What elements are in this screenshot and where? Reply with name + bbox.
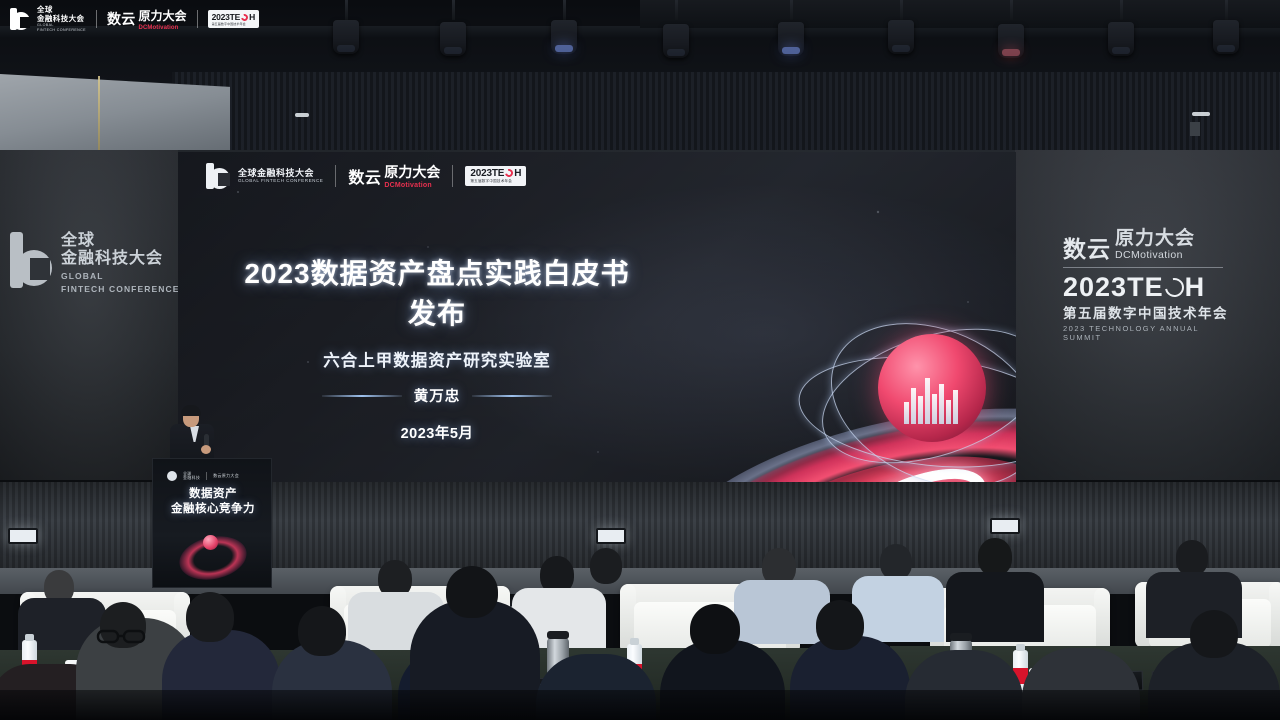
watermark-badge-year: 2023 <box>212 12 230 22</box>
stage-light <box>778 22 804 56</box>
light-hanger <box>1120 0 1123 20</box>
podium-title-line1: 数据资产 <box>153 487 273 502</box>
watermark-shuyun: 数云 <box>107 9 136 29</box>
front-light <box>990 518 1020 534</box>
watermark-motivation: DCMotivation <box>139 25 187 31</box>
light-hanger <box>790 0 793 20</box>
slide-title: 2023数据资产盘点实践白皮书发布 <box>232 252 642 332</box>
front-light <box>8 528 38 544</box>
stage-light <box>663 24 689 58</box>
badge-h: H <box>514 168 521 179</box>
screen-yuanli: 原力大会 <box>384 164 440 180</box>
slide-speaker-name: 黄万忠 <box>414 385 461 406</box>
cityscape-icon <box>904 378 958 424</box>
right-wall-tech-lockup: 2023TEH <box>1063 273 1238 301</box>
watermark-yuanli: 原力大会 <box>139 9 187 23</box>
panel-shading <box>0 150 178 480</box>
fintech-logo-icon <box>206 163 232 189</box>
stage-light <box>440 22 466 56</box>
podium-sphere-graphic <box>203 535 218 550</box>
watermark-badge-sub: 第五届数字中国技术年会 <box>212 22 256 26</box>
main-led-screen: 全球金融科技大会 GLOBAL FINTECH CONFERENCE 数云 原力… <box>178 152 1016 482</box>
speaker-hand <box>201 445 211 454</box>
broadcast-watermark: 全球 金融科技大会 GLOBAL FINTECH CONFERENCE 数云 原… <box>10 6 259 32</box>
slide-speaker-row: 黄万忠 <box>232 385 642 406</box>
badge-sub: 第五届数字中国技术年会 <box>470 179 521 184</box>
audience-head <box>690 604 740 654</box>
divider <box>452 165 453 187</box>
swirl-icon <box>1161 274 1187 300</box>
stage-light <box>1213 20 1239 54</box>
stage-light <box>888 20 914 54</box>
watermark-tech-badge: 2023TEH 第五届数字中国技术年会 <box>208 10 260 28</box>
divider <box>96 10 97 28</box>
podium-logo-bar: 全球金融科技 数云原力大会 <box>167 471 239 481</box>
right-wall-tech-te: TE <box>1127 273 1164 301</box>
audience-head <box>978 538 1012 576</box>
watermark-fintech-logo: 全球 金融科技大会 GLOBAL FINTECH CONFERENCE <box>10 6 86 32</box>
badge-year: 2023 <box>470 168 491 179</box>
right-wall-yuanli: 原力大会 <box>1115 228 1195 249</box>
city-sphere <box>878 334 986 442</box>
light-hanger <box>1010 0 1013 20</box>
slide-date: 2023年5月 <box>232 422 642 443</box>
audience-body <box>734 580 830 644</box>
watermark-fintech-en2: FINTECH CONFERENCE <box>37 28 86 33</box>
screen-dc-logo: 数云 原力大会 DCMotivation <box>348 162 440 189</box>
light-hanger <box>675 0 678 20</box>
light-hanger <box>1225 0 1228 20</box>
screen-motivation: DCMotivation <box>384 182 440 189</box>
watermark-badge-h: H <box>249 12 255 22</box>
right-wall-shuyun: 数云 <box>1063 237 1111 261</box>
right-wall-tech-h: H <box>1185 273 1206 301</box>
right-wall-tech-year: 2023 <box>1063 273 1127 301</box>
conference-stage-scene: 全球 金融科技大会 GLOBAL FINTECH CONFERENCE 数云 原… <box>0 0 1280 720</box>
badge-te: TE <box>492 168 504 179</box>
screen-shuyun: 数云 <box>348 164 381 188</box>
left-wall-logo: 全球 金融科技大会 GLOBAL FINTECH CONFERENCE <box>10 232 180 294</box>
audience-head <box>186 592 234 642</box>
watermark-fintech-cn2: 金融科技大会 <box>37 15 86 24</box>
stage-light <box>1108 22 1134 56</box>
stage-light <box>551 20 577 54</box>
screen-tech-badge: 2023TEH 第五届数字中国技术年会 <box>465 166 526 186</box>
watermark-dc-logo: 数云 原力大会 DCMotivation <box>107 7 187 31</box>
light-hanger <box>452 0 455 20</box>
wall-light <box>1192 112 1210 116</box>
light-hanger <box>563 0 566 20</box>
right-wall-summit-cn: 第五届数字中国技术年会 <box>1063 302 1238 322</box>
podium-logo-label: 全球金融科技 <box>183 472 200 481</box>
divider <box>335 165 336 187</box>
audience-body <box>946 572 1044 642</box>
wall-fixture <box>1190 122 1200 136</box>
swirl-icon <box>504 168 515 179</box>
audience-head <box>1176 540 1208 576</box>
audience-head <box>590 548 622 584</box>
screen-fintech-logo: 全球金融科技大会 GLOBAL FINTECH CONFERENCE <box>206 163 323 189</box>
divider <box>197 10 198 28</box>
divider <box>206 472 207 480</box>
audience-head <box>880 544 912 580</box>
audience-head <box>1190 610 1238 658</box>
fintech-logo-icon <box>10 8 32 30</box>
wall-light <box>295 113 309 117</box>
divider <box>1063 267 1223 268</box>
left-wall-en-line2: FINTECH CONFERENCE <box>61 284 180 294</box>
watermark-badge-te: TE <box>230 12 240 22</box>
ceiling-panel <box>640 0 1280 28</box>
slide-text-block: 2023数据资产盘点实践白皮书发布 六合上甲数据资产研究实验室 黄万忠 2023… <box>232 252 642 443</box>
podium-title-line2: 金融核心竞争力 <box>153 502 273 517</box>
stage-graphic-galaxy <box>648 322 1016 482</box>
screen-logo-bar: 全球金融科技大会 GLOBAL FINTECH CONFERENCE 数云 原力… <box>206 162 526 189</box>
audience-body <box>852 576 944 642</box>
left-wall-cn-line2: 金融科技大会 <box>61 250 180 268</box>
audience-head <box>298 606 346 656</box>
light-hanger <box>345 0 348 20</box>
left-wall-panel <box>0 150 178 480</box>
audience-head <box>446 566 498 618</box>
right-wall-motivation: DCMotivation <box>1115 249 1195 261</box>
left-wall-cn-line1: 全球 <box>61 232 180 250</box>
left-wall-en-line1: GLOBAL <box>61 271 180 281</box>
podium-logo-label-2: 数云原力大会 <box>213 474 239 479</box>
podium-title: 数据资产 金融核心竞争力 <box>153 487 273 517</box>
podium: 全球金融科技 数云原力大会 数据资产 金融核心竞争力 <box>152 458 272 588</box>
stage-light <box>333 20 359 54</box>
speaker-hair <box>181 405 201 416</box>
swirl-icon <box>240 12 250 22</box>
rule-right <box>472 395 552 397</box>
slide-subtitle: 六合上甲数据资产研究实验室 <box>232 347 642 371</box>
stage-light <box>998 24 1024 58</box>
rule-left <box>322 395 402 397</box>
front-light <box>596 528 626 544</box>
right-wall-summit-en: 2023 TECHNOLOGY ANNUAL SUMMIT <box>1063 324 1238 342</box>
screen-fintech-cn: 全球金融科技大会 <box>238 168 323 178</box>
foreground-shadow <box>0 690 1280 720</box>
fintech-logo-icon <box>167 471 177 481</box>
fintech-logo-icon <box>10 232 52 288</box>
eyeglasses-icon <box>96 628 154 646</box>
right-wall-logo: 数云 原力大会 DCMotivation 2023TEH 第五届数字中国技术年会… <box>1063 228 1238 342</box>
audience-head <box>816 600 864 650</box>
light-hanger <box>900 0 903 20</box>
screen-fintech-en: GLOBAL FINTECH CONFERENCE <box>238 178 323 184</box>
